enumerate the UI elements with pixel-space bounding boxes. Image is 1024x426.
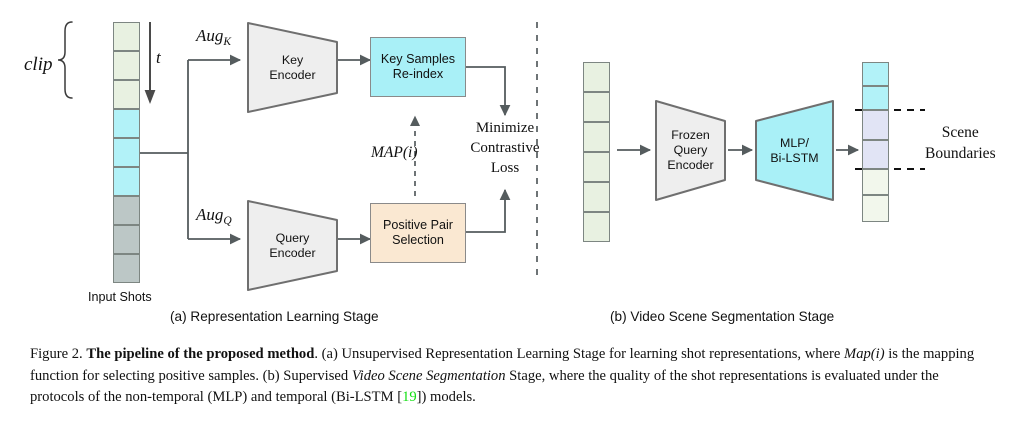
segmentation-input-cell (583, 92, 610, 122)
key-samples-reindex-box: Key Samples Re-index (370, 37, 466, 97)
time-axis-label: t (156, 48, 161, 68)
positive-pair-selection-box: Positive Pair Selection (370, 203, 466, 263)
key-samples-line-2: Re-index (381, 67, 455, 82)
segmentation-output-cell (862, 195, 889, 222)
input-shots-label: Input Shots (88, 290, 152, 304)
shot-cell (113, 196, 140, 225)
scene-boundaries-line-2: Boundaries (925, 143, 996, 164)
query-encoder-line-1: Query (269, 231, 315, 246)
segmentation-input-cell (583, 152, 610, 182)
shot-cell (113, 167, 140, 196)
shot-cell (113, 22, 140, 51)
caption-italic-vss: Video Scene Segmentation (352, 368, 506, 384)
caption-part-4: ]) models. (417, 389, 476, 405)
aug-q-subscript: Q (223, 215, 231, 227)
segmentation-input-cell (583, 122, 610, 152)
minimize-line-3: Loss (459, 158, 551, 178)
stage-a-label: (a) Representation Learning Stage (170, 309, 379, 324)
caption-reference-19[interactable]: 19 (402, 389, 417, 405)
frozen-encoder-line-3: Encoder (667, 158, 713, 173)
query-encoder-line-2: Encoder (269, 246, 315, 261)
segmentation-output-cell (862, 110, 889, 140)
key-samples-line-1: Key Samples (381, 52, 455, 67)
segmentation-input-cell (583, 212, 610, 242)
segmentation-output-cell (862, 86, 889, 110)
segmentation-input-cell (583, 62, 610, 92)
scene-boundaries-label: Scene Boundaries (925, 122, 996, 164)
positive-pair-line-2: Selection (383, 233, 453, 248)
mlp-bilstm-label: MLP/ Bi-LSTM (753, 98, 836, 203)
shot-cell (113, 254, 140, 283)
frozen-encoder-line-1: Frozen (667, 128, 713, 143)
minimize-contrastive-loss-label: Minimize Contrastive Loss (459, 118, 551, 178)
map-function-label: MAP(i) (371, 144, 417, 162)
key-encoder-line-1: Key (269, 53, 315, 68)
minimize-line-1: Minimize (459, 118, 551, 138)
minimize-line-2: Contrastive (459, 138, 551, 158)
aug-q-text: Aug (196, 205, 223, 224)
shot-cell (113, 138, 140, 167)
aug-q-label: AugQ (196, 205, 232, 227)
caption-part-1: . (a) Unsupervised Representation Learni… (314, 346, 844, 362)
shot-cell (113, 225, 140, 254)
shot-cell (113, 109, 140, 138)
mlp-line-1: MLP/ (770, 136, 818, 151)
clip-label: clip (24, 54, 53, 76)
key-encoder-label: Key Encoder (245, 20, 340, 115)
frozen-encoder-line-2: Query (667, 143, 713, 158)
stage-b-label: (b) Video Scene Segmentation Stage (610, 309, 834, 324)
key-encoder-line-2: Encoder (269, 68, 315, 83)
aug-k-label: AugK (196, 26, 231, 48)
caption-bold-title: The pipeline of the proposed method (86, 346, 314, 362)
figure-pipeline: clip t Input Shots AugK AugQ Key Encoder… (0, 0, 1024, 330)
shot-cell (113, 51, 140, 80)
segmentation-input-cell (583, 182, 610, 212)
figure-caption: Figure 2. The pipeline of the proposed m… (30, 344, 994, 409)
positive-pair-line-1: Positive Pair (383, 218, 453, 233)
query-encoder-label: Query Encoder (245, 198, 340, 293)
frozen-query-encoder-label: Frozen Query Encoder (653, 98, 728, 203)
aug-k-subscript: K (223, 36, 231, 48)
segmentation-output-cell (862, 62, 889, 86)
caption-prefix: Figure 2. (30, 346, 86, 362)
scene-boundaries-line-1: Scene (925, 122, 996, 143)
segmentation-output-cell (862, 140, 889, 169)
mlp-line-2: Bi-LSTM (770, 151, 818, 166)
aug-k-text: Aug (196, 26, 223, 45)
caption-math-map: Map(i) (844, 346, 885, 362)
segmentation-output-cell (862, 169, 889, 195)
shot-cell (113, 80, 140, 109)
